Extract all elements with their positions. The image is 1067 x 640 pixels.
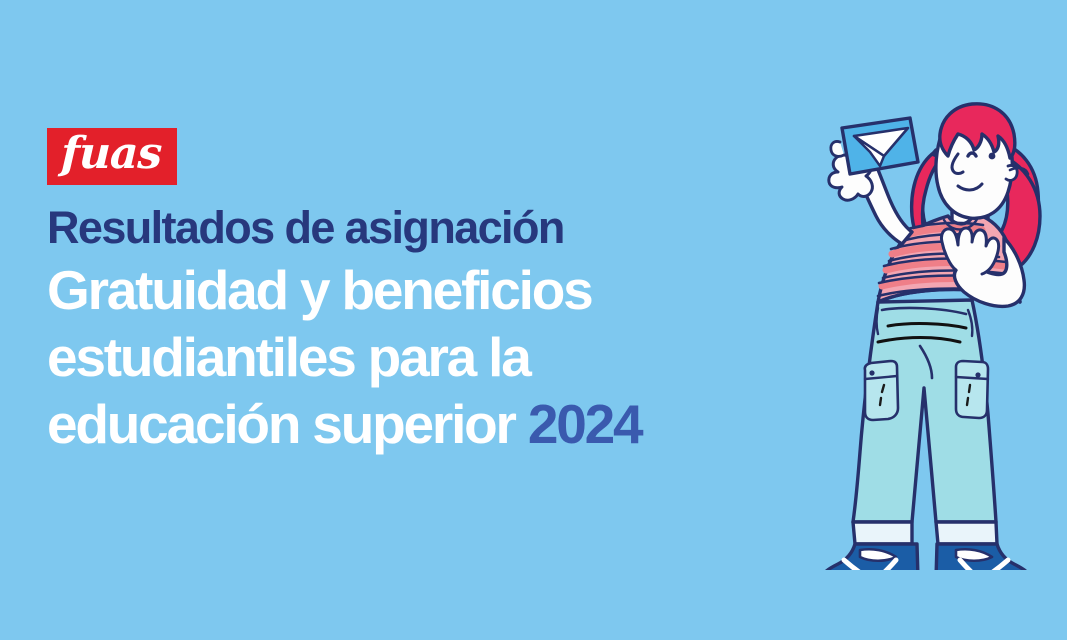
fuas-logo-text: fuas	[60, 132, 162, 177]
banner-headline: Gratuidad y beneficios estudiantiles par…	[47, 257, 847, 458]
message-device	[842, 118, 918, 174]
promo-banner: fuas Resultados de asignación Gratuidad …	[0, 0, 1067, 640]
pants-shape	[853, 300, 997, 544]
headline-line-2: estudiantiles para la	[47, 324, 847, 391]
headline-year: 2024	[528, 393, 642, 455]
headline-line-3-text: educación superior	[47, 393, 528, 455]
shoes-shape	[822, 544, 1030, 570]
banner-content: fuas Resultados de asignación Gratuidad …	[47, 128, 847, 458]
headline-line-3: educación superior 2024	[47, 391, 847, 458]
headline-line-1: Gratuidad y beneficios	[47, 257, 847, 324]
student-illustration	[760, 70, 1067, 570]
banner-kicker: Resultados de asignación	[47, 205, 847, 251]
fuas-logo: fuas	[47, 128, 177, 185]
